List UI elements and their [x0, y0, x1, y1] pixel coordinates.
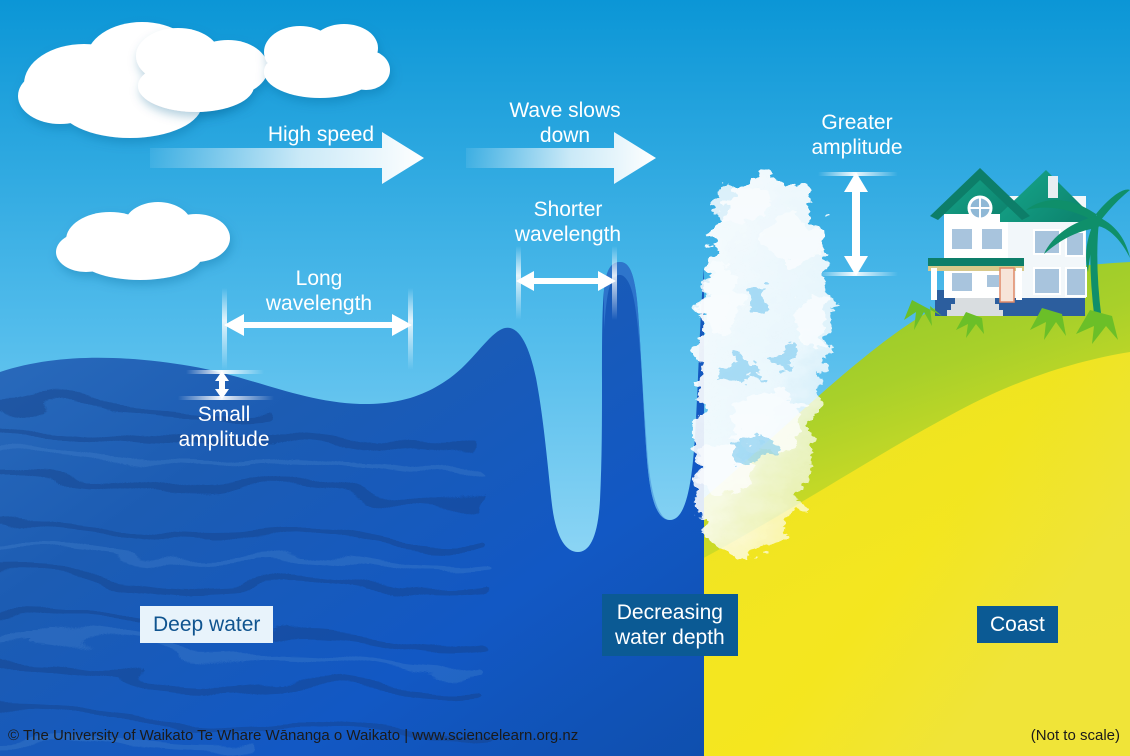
zone-label-decreasing-water-depth: Decreasing water depth — [602, 594, 738, 656]
zone-label-coast: Coast — [977, 606, 1058, 643]
not-to-scale-note: (Not to scale) — [1031, 727, 1120, 744]
tsunami-diagram: High speed Wave slows down Greater ampli… — [0, 0, 1130, 756]
cloud-icon-right — [264, 24, 390, 98]
credit-text: © The University of Waikato Te Whare Wān… — [8, 727, 578, 744]
footer: © The University of Waikato Te Whare Wān… — [0, 708, 1130, 756]
zone-label-deep-water: Deep water — [140, 606, 273, 643]
